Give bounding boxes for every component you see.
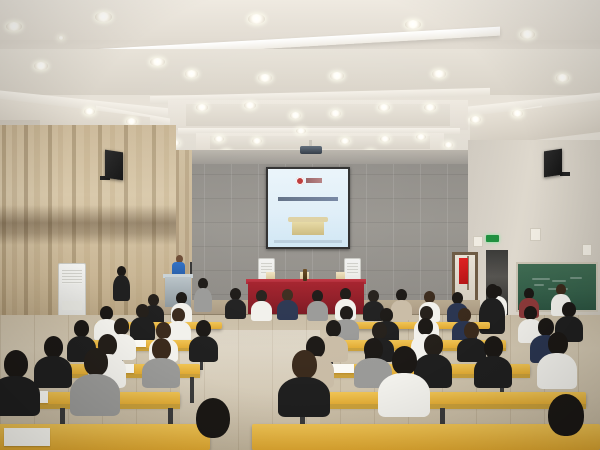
loudspeaker-right [544,149,562,178]
staff-head [486,284,499,299]
water-bottle [303,269,307,281]
wall-fixture [530,228,541,241]
downlight [444,142,453,148]
downlight [196,104,208,111]
downlight [424,104,436,111]
downlight [296,128,306,134]
downlight [34,62,48,70]
wall-fixture [582,244,592,256]
attendee-standing [113,275,130,301]
desk-leg [190,377,194,403]
attendee-standing [194,288,212,312]
downlight [58,36,64,40]
downlight [290,112,301,119]
slide-org-text [306,178,322,183]
attendee-head-foreground [196,398,230,438]
downlight [214,136,224,142]
slide-logo-icon [296,177,304,185]
downlight [520,30,535,39]
downlight [470,116,481,123]
downlight [126,118,137,125]
downlight [405,20,421,29]
name-card [266,272,275,279]
downlight [380,136,390,142]
projected-slide [268,169,348,247]
projection-screen [266,167,350,249]
loudspeaker-left [105,150,123,181]
downlight [432,70,446,78]
downlight [378,104,390,111]
downlight [252,138,262,144]
name-card [336,272,345,279]
slide-title-text [278,197,338,201]
downlight [512,110,523,117]
downlight [258,74,272,82]
downlight [340,138,350,144]
downlight [330,110,341,117]
desk-row-foreground [252,424,600,450]
handout-paper [4,428,50,446]
slide-building-graphic [292,221,324,235]
downlight [248,14,265,24]
exit-sign-icon [486,235,499,242]
downlight [416,134,426,140]
air-conditioner-left [58,263,86,317]
downlight [185,70,198,78]
downlight [556,74,569,82]
downlight [84,108,95,115]
attendee-head-foreground [548,394,584,436]
lecture-hall-photo [0,0,600,450]
downlight [150,58,165,66]
projector [300,146,322,154]
downlight [330,72,344,80]
wall-fixture [473,236,483,247]
downlight [6,22,22,31]
downlight [95,12,112,22]
desk-edge [286,404,586,409]
slide-footer-band [274,240,342,243]
downlight [244,102,256,109]
national-flag [459,258,468,284]
